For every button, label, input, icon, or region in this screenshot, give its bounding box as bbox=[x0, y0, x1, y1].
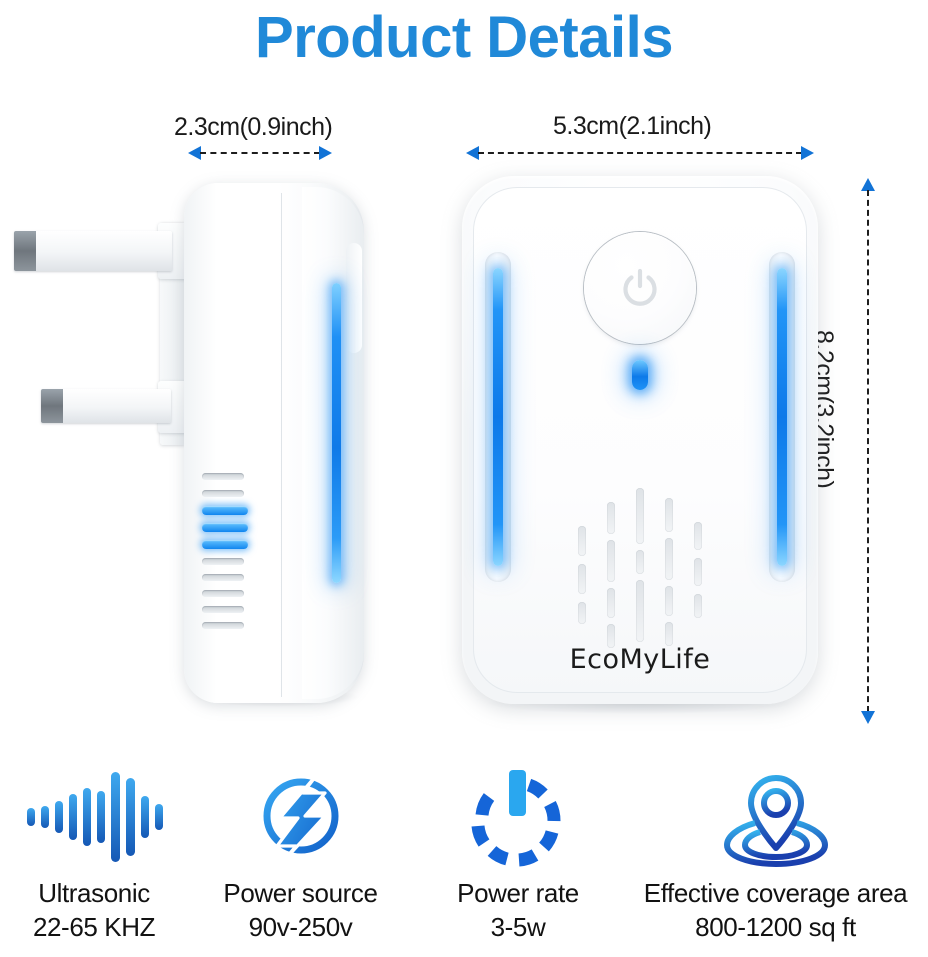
feature-coverage-area: Effective coverage area 800-1200 sq ft bbox=[623, 760, 928, 957]
vent-slot bbox=[202, 490, 244, 497]
side-led-strip bbox=[332, 283, 341, 583]
vent-slot bbox=[202, 558, 244, 565]
grille-slot bbox=[578, 602, 586, 624]
product-details-page: Product Details 2.3cm(0.9inch) 5.3cm(2.1… bbox=[0, 0, 928, 957]
plug-prong-top bbox=[14, 231, 172, 271]
feature-label: Power rate bbox=[457, 876, 579, 910]
feature-value: 90v-250v bbox=[223, 910, 377, 944]
vent-slot-lit bbox=[202, 506, 248, 515]
arrow-down-icon bbox=[861, 711, 875, 724]
plug-prong-bottom bbox=[41, 389, 171, 423]
dashed-line bbox=[478, 152, 802, 154]
dashed-line bbox=[867, 190, 869, 712]
grille-slot bbox=[694, 594, 702, 618]
feature-power-source: Power source 90v-250v bbox=[188, 760, 413, 957]
vent-slot bbox=[202, 590, 244, 597]
grille-slot bbox=[607, 502, 615, 534]
grille-slot bbox=[636, 550, 644, 574]
lightning-bolt-icon bbox=[246, 760, 356, 872]
feature-value: 3-5w bbox=[457, 910, 579, 944]
location-pin-icon bbox=[717, 760, 835, 872]
vent-slot bbox=[202, 574, 244, 581]
status-led-indicator bbox=[632, 360, 648, 390]
grille-slot bbox=[607, 540, 615, 582]
led-strip-right bbox=[777, 268, 787, 566]
feature-value: 800-1200 sq ft bbox=[644, 910, 907, 944]
grille-slot bbox=[636, 488, 644, 544]
housing-seam bbox=[281, 193, 282, 697]
grille-slot bbox=[694, 558, 702, 586]
feature-text: Power rate 3-5w bbox=[457, 876, 579, 945]
side-vent-group bbox=[202, 473, 254, 629]
feature-ultrasonic: Ultrasonic 22-65 KHZ bbox=[0, 760, 188, 957]
power-symbol-icon bbox=[618, 266, 662, 310]
dimension-arrow-side-width bbox=[188, 146, 332, 160]
feature-power-rate: Power rate 3-5w bbox=[413, 760, 623, 957]
feature-label: Effective coverage area bbox=[644, 876, 907, 910]
arrow-right-icon bbox=[319, 146, 332, 160]
grille-slot bbox=[665, 538, 673, 580]
feature-row: Ultrasonic 22-65 KHZ P bbox=[0, 760, 928, 957]
speaker-grille bbox=[578, 488, 702, 652]
dimension-label-side-width: 2.3cm(0.9inch) bbox=[174, 113, 332, 142]
grille-slot bbox=[694, 522, 702, 550]
vent-slot bbox=[202, 622, 244, 629]
vent-slot-lit bbox=[202, 523, 248, 532]
power-button[interactable] bbox=[584, 232, 696, 344]
feature-text: Ultrasonic 22-65 KHZ bbox=[33, 876, 155, 945]
prong-tip bbox=[41, 389, 63, 423]
grille-slot bbox=[578, 526, 586, 556]
dashed-line bbox=[200, 152, 320, 154]
feature-label: Ultrasonic bbox=[33, 876, 155, 910]
grille-slot bbox=[607, 588, 615, 618]
feature-value: 22-65 KHZ bbox=[33, 910, 155, 944]
dimension-arrow-front-width bbox=[466, 146, 814, 160]
grille-slot bbox=[636, 580, 644, 642]
device-side-housing bbox=[184, 183, 364, 703]
brand-logo-text: EcoMyLife bbox=[462, 644, 818, 675]
vent-slot-lit bbox=[202, 540, 248, 549]
dimension-arrow-height bbox=[861, 178, 875, 724]
feature-text: Power source 90v-250v bbox=[223, 876, 377, 945]
power-dial-icon bbox=[463, 760, 573, 872]
device-front-view: EcoMyLife bbox=[462, 176, 818, 716]
grille-slot bbox=[665, 586, 673, 616]
grille-slot bbox=[578, 564, 586, 594]
device-front-housing: EcoMyLife bbox=[462, 176, 818, 704]
grille-slot bbox=[665, 498, 673, 532]
sound-wave-icon bbox=[19, 760, 169, 872]
led-strip-left bbox=[493, 268, 503, 566]
plug-side-view bbox=[8, 175, 368, 715]
page-title: Product Details bbox=[0, 4, 928, 71]
dimension-label-front-width: 5.3cm(2.1inch) bbox=[553, 112, 711, 141]
vent-slot bbox=[202, 606, 244, 613]
arrow-right-icon bbox=[801, 146, 814, 160]
grille-slot bbox=[665, 622, 673, 646]
feature-text: Effective coverage area 800-1200 sq ft bbox=[644, 876, 907, 945]
side-notch bbox=[346, 243, 362, 353]
feature-label: Power source bbox=[223, 876, 377, 910]
prong-tip bbox=[14, 231, 36, 271]
vent-slot bbox=[202, 473, 244, 480]
